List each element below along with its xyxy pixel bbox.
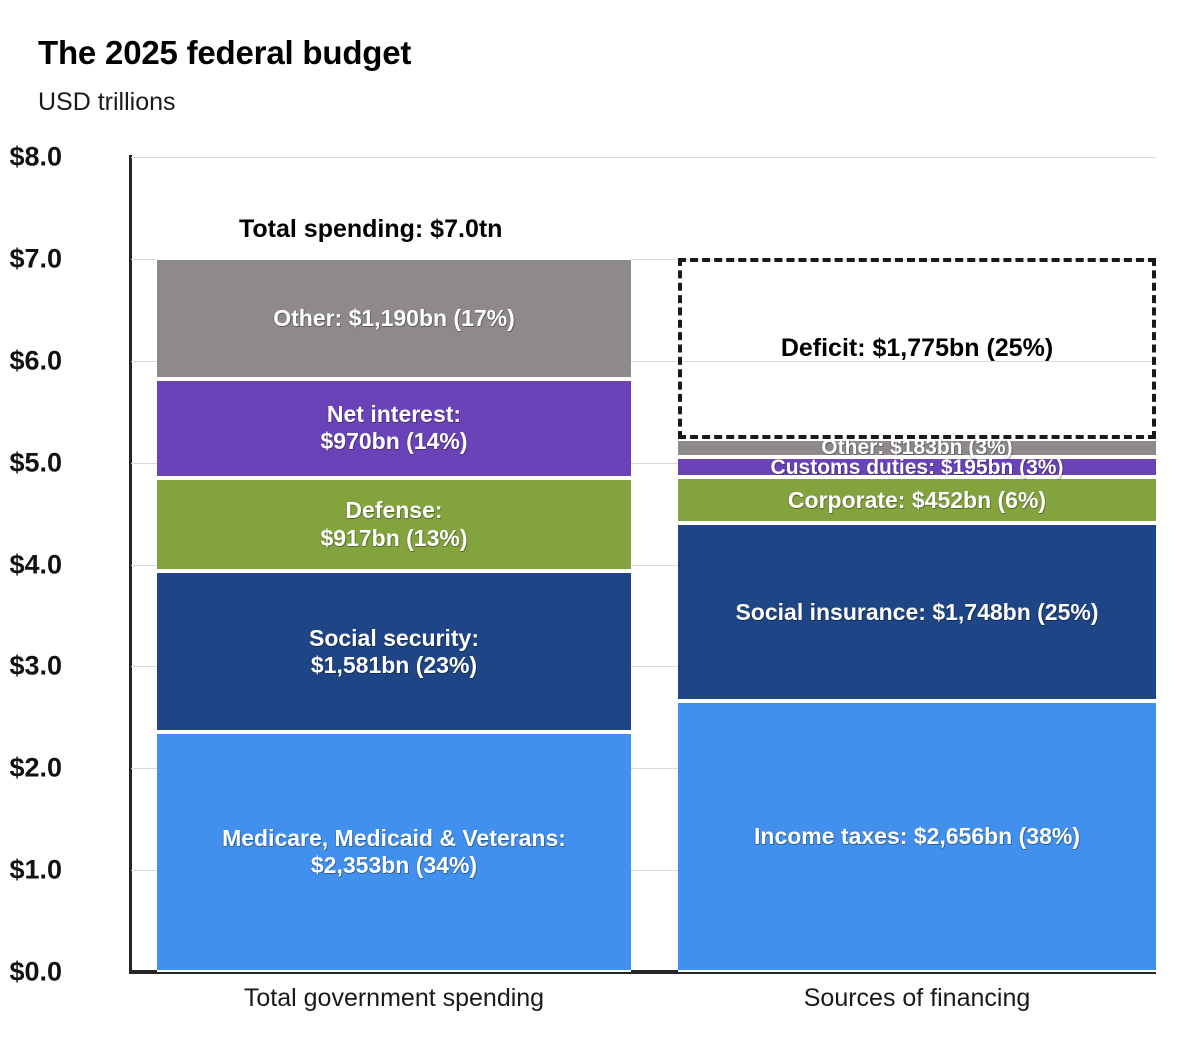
segment-income-taxes[interactable]: Income taxes: $2,656bn (38%) (678, 701, 1156, 972)
plot-area: $8.0 $7.0 $6.0 $5.0 $4.0 $3.0 $2.0 $1.0 … (131, 157, 1156, 972)
segment-label: Social security: $1,581bn (23%) (309, 625, 479, 679)
y-tick-label-0: $0.0 (0, 957, 62, 988)
segment-label: Net interest: $970bn (14%) (320, 401, 467, 455)
segment-label: Medicare, Medicaid & Veterans: $2,353bn … (222, 825, 566, 879)
page-title: The 2025 federal budget (38, 34, 411, 72)
segment-other-financing[interactable]: Other: $183bn (3%) (678, 439, 1156, 458)
segment-label: Defense: $917bn (13%) (320, 497, 467, 551)
segment-label: Income taxes: $2,656bn (38%) (754, 823, 1080, 850)
chart-root: The 2025 federal budget USD trillions $8… (0, 0, 1184, 1040)
x-category-label-sources-of-financing: Sources of financing (678, 984, 1156, 1013)
y-tick-label-3: $3.0 (0, 651, 62, 682)
y-tick-label-5: $5.0 (0, 447, 62, 478)
segment-label: Other: $1,190bn (17%) (273, 305, 515, 332)
y-tick-label-6: $6.0 (0, 345, 62, 376)
y-tick-label-7: $7.0 (0, 243, 62, 274)
segment-social-security[interactable]: Social security: $1,581bn (23%) (157, 571, 631, 732)
segment-corporate[interactable]: Corporate: $452bn (6%) (678, 477, 1156, 523)
segment-label: Social insurance: $1,748bn (25%) (735, 599, 1098, 626)
gridline-8 (131, 157, 1156, 158)
segment-label: Corporate: $452bn (6%) (788, 487, 1046, 514)
segment-social-insurance[interactable]: Social insurance: $1,748bn (25%) (678, 523, 1156, 701)
segment-customs-duties[interactable]: Customs duties: $195bn (3%) (678, 457, 1156, 477)
segment-medicare-medicaid-veterans[interactable]: Medicare, Medicaid & Veterans: $2,353bn … (157, 732, 631, 972)
segment-label: Other: $183bn (3%) (821, 436, 1012, 461)
deficit-label: Deficit: $1,775bn (25%) (781, 334, 1053, 363)
segment-other-spending[interactable]: Other: $1,190bn (17%) (157, 258, 631, 379)
y-tick-label-1: $1.0 (0, 855, 62, 886)
total-spending-annotation: Total spending: $7.0tn (239, 215, 502, 244)
segment-defense[interactable]: Defense: $917bn (13%) (157, 478, 631, 571)
segment-net-interest[interactable]: Net interest: $970bn (14%) (157, 379, 631, 478)
y-tick-label-8: $8.0 (0, 142, 62, 173)
y-tick-label-4: $4.0 (0, 549, 62, 580)
x-category-label-total-government-spending: Total government spending (157, 984, 631, 1013)
segment-label: Customs duties: $195bn (3%) (771, 456, 1064, 481)
y-tick-label-2: $2.0 (0, 753, 62, 784)
chart-subtitle: USD trillions (38, 88, 176, 117)
segment-deficit[interactable]: Deficit: $1,775bn (25%) (678, 258, 1156, 439)
